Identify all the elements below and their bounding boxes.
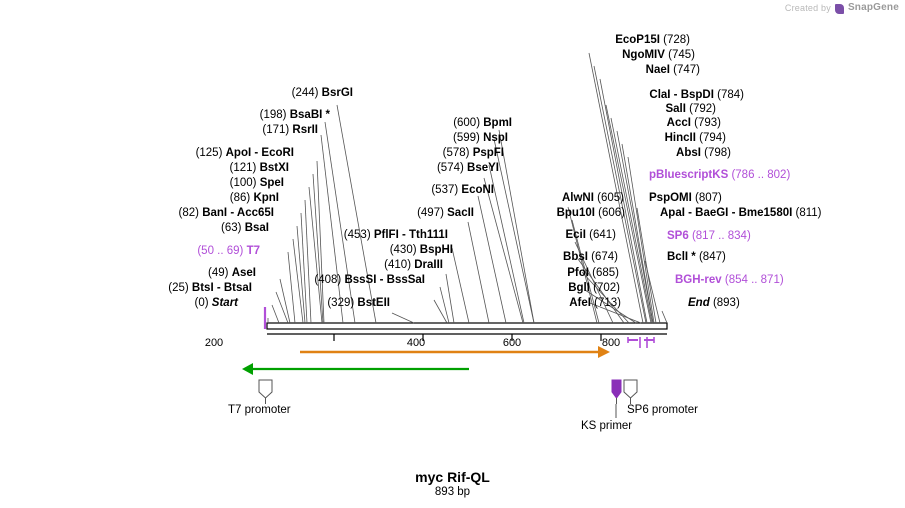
site-label-apoi-ecori[interactable]: (125) ApoI - EcoRI bbox=[40, 148, 294, 160]
plasmid-length: 893 bp bbox=[0, 486, 905, 498]
site-label-t7[interactable]: (50 .. 69) T7 bbox=[40, 246, 260, 258]
credit-brand: SnapGene bbox=[848, 2, 899, 13]
site-label-naei[interactable]: NaeI (747) bbox=[430, 65, 700, 77]
feature-caption-t7-promoter[interactable]: T7 promoter bbox=[228, 404, 291, 416]
site-label-sp6[interactable]: SP6 (817 .. 834) bbox=[667, 231, 751, 243]
site-label-bsai[interactable]: (63) BsaI bbox=[40, 223, 269, 235]
site-label-ecop15i[interactable]: EcoP15I (728) bbox=[430, 35, 690, 47]
site-label-draiii[interactable]: (410) DraIII bbox=[250, 260, 443, 272]
site-label-bgli[interactable]: BglI (702) bbox=[430, 283, 620, 295]
ruler-tick-200: 200 bbox=[205, 337, 223, 349]
site-label-kpni[interactable]: (86) KpnI bbox=[40, 193, 279, 205]
site-label-apai-baegi-bme1580i[interactable]: ApaI - BaeGI - Bme1580I (811) bbox=[660, 208, 822, 220]
snapgene-logo-icon bbox=[835, 4, 844, 14]
site-label-bpu10i[interactable]: Bpu10I (606) bbox=[430, 208, 625, 220]
site-label-bstxi[interactable]: (121) BstXI bbox=[40, 163, 289, 175]
sp6-promoter-marker bbox=[612, 380, 621, 404]
site-label-btsi-btsai[interactable]: (25) BtsI - BtsaI bbox=[10, 283, 252, 295]
feature-caption-sp6-promoter[interactable]: SP6 promoter bbox=[627, 404, 698, 416]
site-label-asei[interactable]: (49) AseI bbox=[40, 268, 256, 280]
site-label-end[interactable]: End (893) bbox=[688, 298, 740, 310]
ruler-tick-600: 600 bbox=[503, 337, 521, 349]
snapgene-credit: Created by SnapGene bbox=[785, 2, 899, 13]
site-label-ngomiv[interactable]: NgoMIV (745) bbox=[430, 50, 695, 62]
site-label-ecii[interactable]: EciI (641) bbox=[430, 230, 616, 242]
site-label-pspomi[interactable]: PspOMI (807) bbox=[649, 193, 722, 205]
site-label-alwni[interactable]: AlwNI (605) bbox=[430, 193, 624, 205]
credit-text: Created by bbox=[785, 3, 831, 13]
site-label-sali[interactable]: SalI (792) bbox=[430, 104, 716, 116]
t7-promoter-marker bbox=[259, 380, 272, 404]
site-label-pfoi[interactable]: PfoI (685) bbox=[430, 268, 619, 280]
feature-caption-ks-primer[interactable]: KS primer bbox=[581, 420, 632, 432]
site-label-bsssi-bsssai[interactable]: (408) BssSI - BssSaI bbox=[230, 275, 425, 287]
ruler-tick-800: 800 bbox=[602, 337, 620, 349]
cds-arrow-orange bbox=[300, 346, 610, 358]
site-label-bsabi[interactable]: (198) BsaBI * bbox=[40, 110, 330, 122]
site-label-spei[interactable]: (100) SpeI bbox=[40, 178, 284, 190]
site-label-bcli[interactable]: BclI * (847) bbox=[667, 252, 726, 264]
page-title: myc Rif-QL bbox=[0, 469, 905, 485]
site-label-start[interactable]: (0) Start bbox=[10, 298, 238, 310]
site-label-bbsi[interactable]: BbsI (674) bbox=[430, 252, 618, 264]
ruler-tick-400: 400 bbox=[407, 337, 425, 349]
plasmid-map: Created by SnapGene bbox=[0, 0, 905, 508]
site-label-bsteii[interactable]: (329) BstEII bbox=[230, 298, 390, 310]
t7-promoter-arrow bbox=[242, 363, 469, 375]
site-label-pflfi-tth111i[interactable]: (453) PflFI - Tth111I bbox=[250, 230, 448, 242]
site-label-nspi[interactable]: (599) NspI bbox=[300, 133, 508, 145]
site-label-bani-acc65i[interactable]: (82) BanI - Acc65I bbox=[40, 208, 274, 220]
site-label-bgh-rev[interactable]: BGH-rev (854 .. 871) bbox=[675, 275, 784, 287]
site-label-afei[interactable]: AfeI (713) bbox=[430, 298, 621, 310]
site-label-bseyi[interactable]: (574) BseYI bbox=[300, 163, 499, 175]
site-label-bpmi[interactable]: (600) BpmI bbox=[300, 118, 512, 130]
site-label-clai-bspdi[interactable]: ClaI - BspDI (784) bbox=[430, 90, 744, 102]
site-label-bsphi[interactable]: (430) BspHI bbox=[250, 245, 453, 257]
site-label-pbluescriptks[interactable]: pBluescriptKS (786 .. 802) bbox=[649, 170, 790, 182]
site-label-rsrii[interactable]: (171) RsrII bbox=[40, 125, 318, 137]
site-label-bsrgi[interactable]: (244) BsrGI bbox=[40, 88, 353, 100]
site-label-pspfi[interactable]: (578) PspFI bbox=[300, 148, 504, 160]
